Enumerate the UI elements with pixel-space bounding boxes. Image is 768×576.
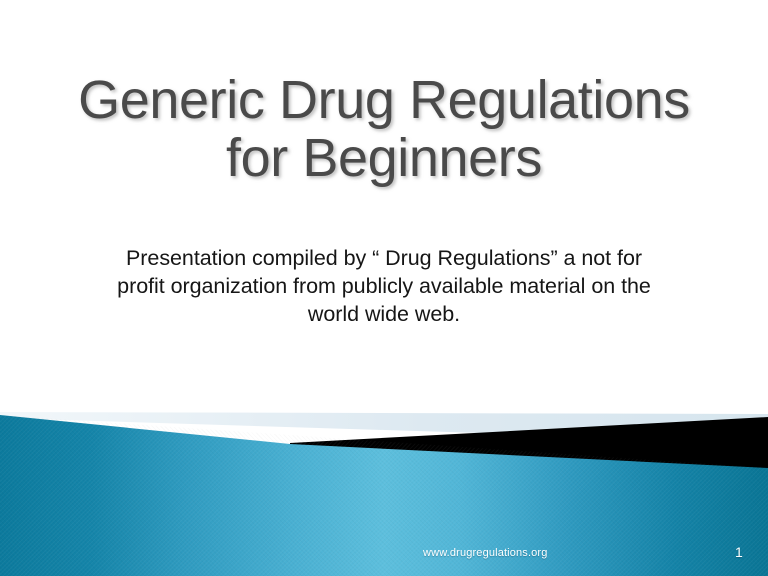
- decorative-band-shapes: [0, 400, 768, 576]
- page-title: Generic Drug Regulations for Beginners: [0, 72, 768, 188]
- footer-url[interactable]: www.drugregulations.org: [423, 547, 548, 559]
- presentation-slide: Generic Drug Regulations for Beginners P…: [0, 0, 768, 576]
- slide-page-number: 1: [735, 544, 755, 560]
- slide-subtitle: Presentation compiled by “ Drug Regulati…: [116, 245, 652, 329]
- decorative-band: [0, 400, 768, 576]
